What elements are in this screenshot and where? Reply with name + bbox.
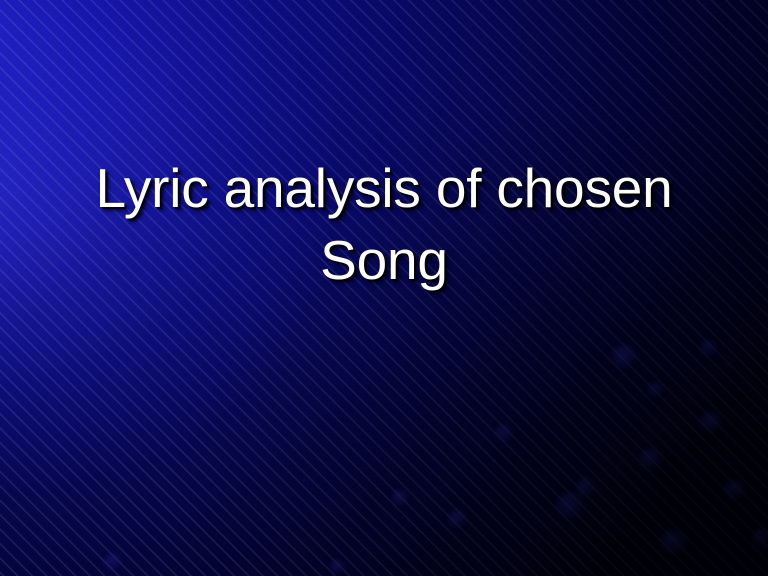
slide-title-line-2: Song xyxy=(52,224,716,296)
slide-title: Lyric analysis of chosen Song xyxy=(0,152,768,296)
presentation-slide: Lyric analysis of chosen Song xyxy=(0,0,768,576)
slide-title-line-1: Lyric analysis of chosen xyxy=(52,152,716,224)
